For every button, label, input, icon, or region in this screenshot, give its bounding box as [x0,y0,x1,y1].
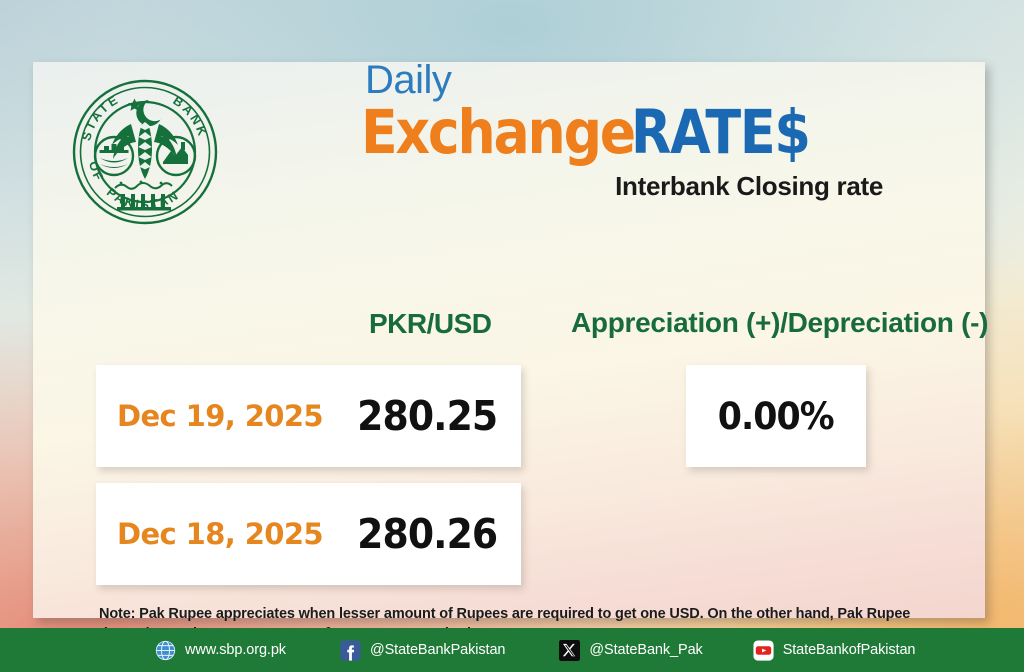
facebook-icon [340,640,361,661]
table-row: Dec 18, 2025 280.26 [96,483,521,585]
social-link-website[interactable]: www.sbp.org.pk [155,640,286,661]
title-subtitle: Interbank Closing rate [333,171,953,202]
social-footer-bar: www.sbp.org.pk @StateBankPakistan @State… [0,628,1024,672]
svg-text:STATE: STATE [79,92,122,142]
title-daily: Daily [365,60,953,100]
globe-icon [155,640,176,661]
social-link-facebook[interactable]: @StateBankPakistan [340,640,505,661]
sbp-seal-icon: STATE BANK OF PAKISTAN [55,62,235,242]
change-percent-card: 0.00% [686,365,866,467]
rate-value: 280.26 [357,510,497,558]
youtube-icon [753,640,774,661]
content-panel: STATE BANK OF PAKISTAN Daily ExchangeRAT… [33,62,985,618]
title-main: ExchangeRATE$ [361,102,953,163]
column-header-appreciation-depreciation: Appreciation (+)/Depreciation (-) [571,307,988,339]
x-twitter-icon [559,640,580,661]
social-label-youtube: StateBankofPakistan [783,642,916,658]
rate-date: Dec 18, 2025 [117,517,323,551]
column-header-pkr-usd: PKR/USD [369,308,492,340]
social-link-youtube[interactable]: StateBankofPakistan [753,640,916,661]
poster-title-block: Daily ExchangeRATE$ Interbank Closing ra… [333,60,953,202]
rate-date: Dec 19, 2025 [117,399,323,433]
social-link-x-twitter[interactable]: @StateBank_Pak [559,640,702,661]
social-label-x-twitter: @StateBank_Pak [589,642,702,658]
rate-value: 280.25 [357,392,497,440]
title-rates: RATE$ [631,102,810,163]
exchange-rate-poster: STATE BANK OF PAKISTAN Daily ExchangeRAT… [0,0,1024,672]
social-label-website: www.sbp.org.pk [185,642,286,658]
social-label-facebook: @StateBankPakistan [370,642,505,658]
change-percent-value: 0.00% [718,395,834,438]
table-row: Dec 19, 2025 280.25 [96,365,521,467]
title-exchange: Exchange [361,102,634,163]
